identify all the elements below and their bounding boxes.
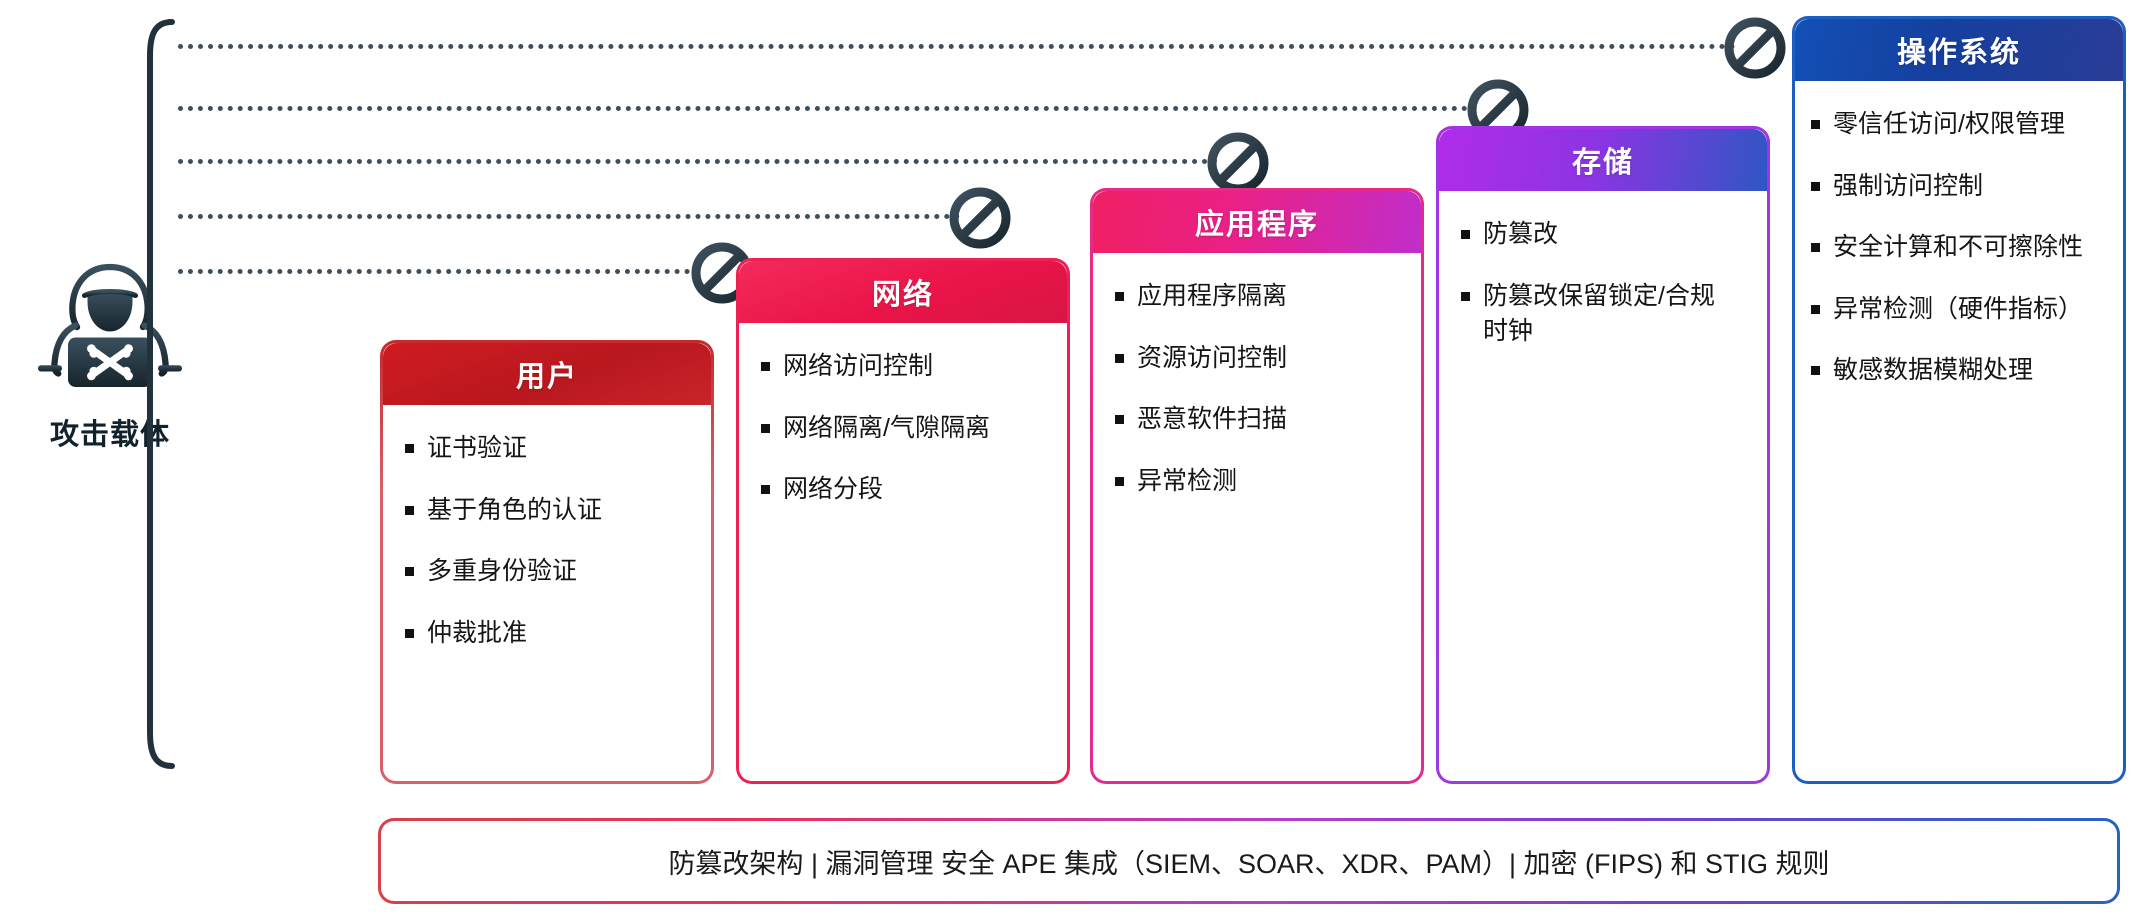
bullet-square-icon bbox=[1811, 305, 1820, 314]
list-item: 网络分段 bbox=[761, 472, 1051, 508]
left-bracket-icon bbox=[140, 18, 180, 770]
attack-line-network bbox=[178, 214, 960, 219]
bullet-square-icon bbox=[405, 567, 414, 576]
layer-header-storage: 存储 bbox=[1439, 129, 1767, 191]
list-item: 敏感数据模糊处理 bbox=[1811, 353, 2107, 389]
list-item: 多重身份验证 bbox=[405, 554, 695, 590]
layer-card-os-frame: 操作系统 零信任访问/权限管理 强制访问控制 安全计算和不可擦除性 异常检测（硬… bbox=[1792, 16, 2126, 784]
foundation-bar-frame: 防篡改架构 | 漏洞管理 安全 APE 集成（SIEM、SOAR、XDR、PAM… bbox=[378, 818, 2120, 904]
list-item: 证书验证 bbox=[405, 431, 695, 467]
layer-list-storage: 防篡改 防篡改保留锁定/合规时钟 bbox=[1439, 191, 1767, 386]
layer-list-application: 应用程序隔离 资源访问控制 恶意软件扫描 异常检测 bbox=[1093, 253, 1421, 535]
list-item: 应用程序隔离 bbox=[1115, 279, 1405, 315]
bullet-square-icon bbox=[405, 629, 414, 638]
layer-list-network: 网络访问控制 网络隔离/气隙隔离 网络分段 bbox=[739, 323, 1067, 544]
bullet-square-icon bbox=[1115, 415, 1124, 424]
layer-title-os: 操作系统 bbox=[1897, 29, 2021, 71]
bullet-square-icon bbox=[1811, 243, 1820, 252]
layer-header-application: 应用程序 bbox=[1093, 191, 1421, 253]
layer-list-os: 零信任访问/权限管理 强制访问控制 安全计算和不可擦除性 异常检测（硬件指标） … bbox=[1795, 81, 2123, 425]
attack-line-storage bbox=[178, 106, 1478, 111]
layer-card-application-frame: 应用程序 应用程序隔离 资源访问控制 恶意软件扫描 异常检测 bbox=[1090, 188, 1424, 784]
list-item: 网络隔离/气隙隔离 bbox=[761, 411, 1051, 447]
bullet-square-icon bbox=[405, 506, 414, 515]
bullet-square-icon bbox=[761, 362, 770, 371]
layer-card-os[interactable]: 操作系统 零信任访问/权限管理 强制访问控制 安全计算和不可擦除性 异常检测（硬… bbox=[1792, 16, 2126, 784]
list-item: 防篡改保留锁定/合规时钟 bbox=[1461, 279, 1751, 350]
bullet-square-icon bbox=[1461, 292, 1470, 301]
bullet-square-icon bbox=[761, 485, 770, 494]
layer-card-network-frame: 网络 网络访问控制 网络隔离/气隙隔离 网络分段 bbox=[736, 258, 1070, 784]
attack-line-application bbox=[178, 159, 1218, 164]
bullet-square-icon bbox=[1811, 366, 1820, 375]
list-item: 安全计算和不可擦除性 bbox=[1811, 230, 2107, 266]
layer-title-application: 应用程序 bbox=[1195, 201, 1319, 243]
layer-header-user: 用户 bbox=[383, 343, 711, 405]
prohibition-icon bbox=[1206, 131, 1270, 195]
list-item: 强制访问控制 bbox=[1811, 169, 2107, 205]
bullet-square-icon bbox=[1811, 182, 1820, 191]
attack-line-user bbox=[178, 269, 700, 274]
list-item: 异常检测 bbox=[1115, 464, 1405, 500]
bullet-square-icon bbox=[761, 424, 770, 433]
attack-line-os bbox=[178, 44, 1736, 49]
layer-card-user[interactable]: 用户 证书验证 基于角色的认证 多重身份验证 仲裁批准 bbox=[380, 340, 714, 784]
layer-header-os: 操作系统 bbox=[1795, 19, 2123, 81]
list-item: 仲裁批准 bbox=[405, 616, 695, 652]
layer-header-network: 网络 bbox=[739, 261, 1067, 323]
list-item: 异常检测（硬件指标） bbox=[1811, 292, 2107, 328]
prohibition-icon bbox=[1723, 16, 1787, 80]
layer-card-application[interactable]: 应用程序 应用程序隔离 资源访问控制 恶意软件扫描 异常检测 bbox=[1090, 188, 1424, 784]
foundation-bar-text: 防篡改架构 | 漏洞管理 安全 APE 集成（SIEM、SOAR、XDR、PAM… bbox=[668, 842, 1829, 881]
bullet-square-icon bbox=[1461, 230, 1470, 239]
bullet-square-icon bbox=[405, 444, 414, 453]
prohibition-icon bbox=[948, 186, 1012, 250]
list-item: 基于角色的认证 bbox=[405, 493, 695, 529]
layer-card-user-frame: 用户 证书验证 基于角色的认证 多重身份验证 仲裁批准 bbox=[380, 340, 714, 784]
layer-card-network[interactable]: 网络 网络访问控制 网络隔离/气隙隔离 网络分段 bbox=[736, 258, 1070, 784]
layer-title-user: 用户 bbox=[516, 353, 578, 395]
bullet-square-icon bbox=[1115, 354, 1124, 363]
bullet-square-icon bbox=[1811, 120, 1820, 129]
list-item: 网络访问控制 bbox=[761, 349, 1051, 385]
layer-title-network: 网络 bbox=[872, 271, 934, 313]
diagram-canvas: 攻击载体 用户 证书验证 基于角色的认证 多重身份验证 仲裁批准 bbox=[0, 0, 2146, 916]
list-item: 零信任访问/权限管理 bbox=[1811, 107, 2107, 143]
layer-card-storage-frame: 存储 防篡改 防篡改保留锁定/合规时钟 bbox=[1436, 126, 1770, 784]
layer-card-storage[interactable]: 存储 防篡改 防篡改保留锁定/合规时钟 bbox=[1436, 126, 1770, 784]
bullet-square-icon bbox=[1115, 477, 1124, 486]
layer-list-user: 证书验证 基于角色的认证 多重身份验证 仲裁批准 bbox=[383, 405, 711, 687]
foundation-bar: 防篡改架构 | 漏洞管理 安全 APE 集成（SIEM、SOAR、XDR、PAM… bbox=[378, 818, 2120, 904]
bullet-square-icon bbox=[1115, 292, 1124, 301]
list-item: 恶意软件扫描 bbox=[1115, 402, 1405, 438]
layer-title-storage: 存储 bbox=[1572, 139, 1634, 181]
list-item: 资源访问控制 bbox=[1115, 341, 1405, 377]
list-item: 防篡改 bbox=[1461, 217, 1751, 253]
